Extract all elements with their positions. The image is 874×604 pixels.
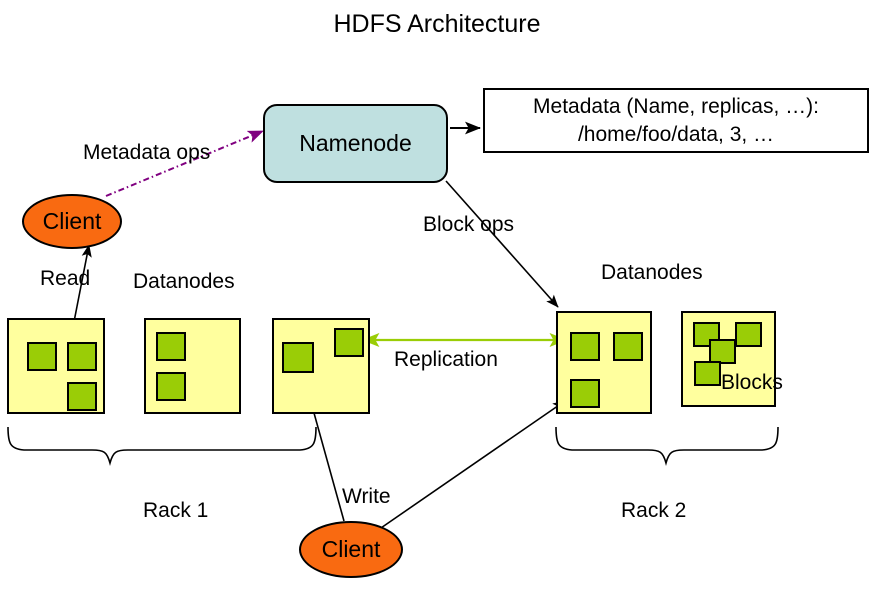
- client-top[interactable]: Client: [22, 194, 122, 249]
- block: [67, 342, 97, 371]
- metadata-line-2: /home/foo/data, 3, …: [578, 121, 774, 149]
- rack1-brace: [8, 427, 316, 463]
- rack1-label: Rack 1: [143, 499, 208, 523]
- metadata-ops-label: Metadata ops: [83, 141, 210, 165]
- client-bottom[interactable]: Client: [299, 521, 403, 578]
- write-label: Write: [342, 485, 391, 509]
- block-ops-label: Block ops: [423, 213, 514, 237]
- blocks-label: Blocks: [721, 371, 783, 395]
- block: [67, 382, 97, 411]
- datanode-rack2-1[interactable]: [556, 311, 652, 414]
- datanode-rack1-2[interactable]: [144, 318, 241, 414]
- block: [156, 332, 186, 361]
- block: [694, 361, 721, 386]
- hdfs-architecture-diagram: HDFS Architecture: [0, 0, 874, 604]
- datanode-rack1-1[interactable]: [7, 318, 105, 414]
- read-label: Read: [40, 267, 90, 291]
- datanode-rack1-3[interactable]: [272, 318, 370, 414]
- rack2-brace: [556, 427, 778, 463]
- block: [156, 372, 186, 401]
- block: [613, 332, 643, 361]
- client-bottom-label: Client: [322, 536, 381, 563]
- datanodes-right-label: Datanodes: [601, 261, 703, 285]
- replication-label: Replication: [394, 348, 498, 372]
- block: [27, 342, 57, 371]
- block: [282, 342, 314, 373]
- block: [735, 322, 762, 347]
- metadata-box: Metadata (Name, replicas, …): /home/foo/…: [483, 88, 869, 153]
- client-top-label: Client: [43, 208, 102, 235]
- namenode-box[interactable]: Namenode: [263, 104, 448, 183]
- block: [334, 328, 364, 357]
- arrow-block-ops: [446, 181, 558, 307]
- arrow-write-remote: [378, 401, 565, 530]
- metadata-line-1: Metadata (Name, replicas, …):: [533, 93, 819, 121]
- block: [570, 379, 600, 408]
- namenode-label: Namenode: [299, 130, 412, 157]
- block: [570, 332, 600, 361]
- datanodes-left-label: Datanodes: [133, 270, 235, 294]
- rack2-label: Rack 2: [621, 499, 686, 523]
